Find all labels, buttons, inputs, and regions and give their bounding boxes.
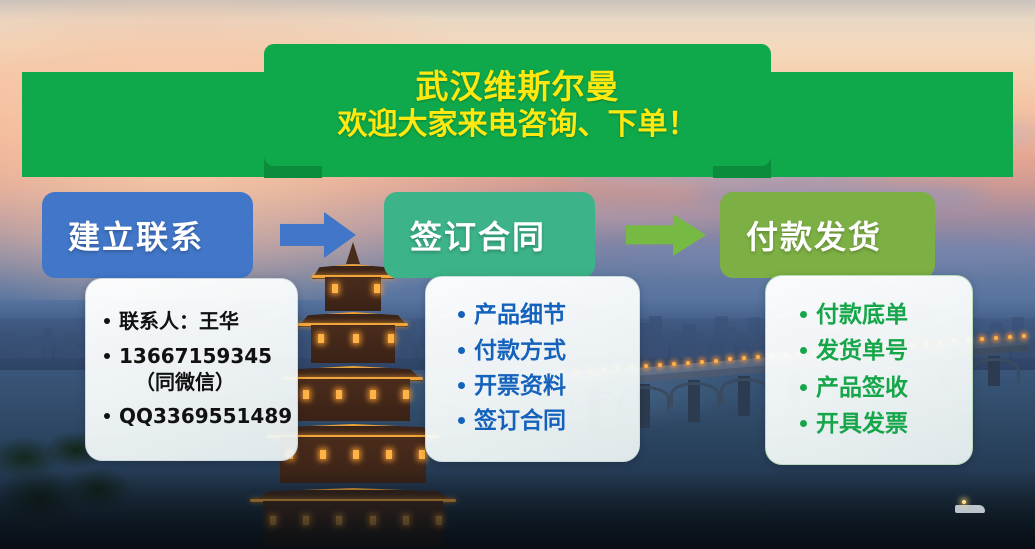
tower-window-light [332,284,338,293]
banner-subtitle: 欢迎大家来电咨询、下单！ [338,107,698,142]
list-item: 13667159345 （同微信） [104,344,289,395]
arrow-head [673,214,706,256]
tower-window-light [403,390,409,399]
bridge-lamp [700,360,704,364]
bullet-dot-icon [104,413,110,419]
tower-window-light [336,390,342,399]
tower-window-light [388,334,394,343]
step-3-header[interactable]: 付款发货 [720,192,935,278]
step-3-bullet-4: 开具发票 [816,410,908,439]
arrow-head [324,212,356,258]
step-1-bullet-2-note: （同微信） [119,370,272,396]
arrow-step2-to-step3-icon [626,214,706,256]
step-2-title: 签订合同 [410,212,546,258]
foreground-shadow [0,470,1035,549]
bridge-lamp [1008,335,1012,339]
bridge-lamp [686,361,690,365]
tower-window-light [370,390,376,399]
tower-window-light [374,284,380,293]
tower-window-light [419,450,425,459]
bullet-dot-icon [458,417,465,424]
bullet-dot-icon [458,382,465,389]
list-item: 产品细节 [458,301,631,330]
list-item: 发货单号 [800,337,964,366]
step-1-title: 建立联系 [68,212,204,258]
tower-storey [311,325,395,363]
step-1-bullet-1: 联系人：王华 [119,309,239,335]
poster-canvas: 武汉维斯尔曼 欢迎大家来电咨询、下单！ 建立联系 联系人：王华 13667159… [0,0,1035,549]
tower-window-light [320,450,326,459]
bullet-dot-icon [800,384,807,391]
step-3-bullet-1: 付款底单 [816,301,908,330]
tower-storey [325,277,381,311]
step-2-header[interactable]: 签订合同 [384,192,595,278]
list-item: 开具发票 [800,410,964,439]
step-1-bullet-2: 13667159345 （同微信） [119,344,272,395]
boat-light [962,500,966,504]
bullet-dot-icon [800,420,807,427]
bridge-arch [670,382,720,407]
bridge-lamp [672,362,676,366]
step-3-bullets: 付款底单 发货单号 产品签收 开具发票 [782,301,964,440]
step-2-bullet-1: 产品细节 [474,301,566,330]
bullet-dot-icon [104,318,110,324]
boat [955,505,985,513]
tower-window-light [318,334,324,343]
bullet-dot-icon [800,311,807,318]
list-item: 签订合同 [458,407,631,436]
step-3-title: 付款发货 [746,212,882,258]
step-2-card: 产品细节 付款方式 开票资料 签订合同 [425,276,640,462]
step-1-header[interactable]: 建立联系 [42,192,253,278]
arrow-step1-to-step2-icon [280,211,356,259]
step-2-bullets: 产品细节 付款方式 开票资料 签订合同 [440,301,631,437]
bullet-dot-icon [458,347,465,354]
tower-window-light [353,450,359,459]
step-2-bullet-4: 签订合同 [474,407,566,436]
bullet-dot-icon [458,311,465,318]
tower-window-light [353,334,359,343]
list-item: QQ3369551489 [104,404,289,430]
bullet-dot-icon [104,353,110,359]
step-3-bullet-3: 产品签收 [816,374,908,403]
bridge-arch [720,378,770,403]
banner-text: 武汉维斯尔曼 欢迎大家来电咨询、下单！ [264,44,771,166]
list-item: 开票资料 [458,372,631,401]
arrow-shaft [280,224,326,246]
list-item: 付款底单 [800,301,964,330]
tower-window-light [303,390,309,399]
step-2-bullet-3: 开票资料 [474,372,566,401]
step-1-bullets: 联系人：王华 13667159345 （同微信） QQ3369551489 [86,309,289,429]
step-3-card: 付款底单 发货单号 产品签收 开具发票 [765,275,973,465]
step-2-bullet-2: 付款方式 [474,337,566,366]
banner-ribbon: 武汉维斯尔曼 欢迎大家来电咨询、下单！ [0,0,1035,195]
bridge-lamp [1022,334,1026,338]
bullet-dot-icon [800,347,807,354]
bridge-lamp [714,359,718,363]
step-1-bullet-2-phone: 13667159345 [119,344,272,368]
list-item: 联系人：王华 [104,309,289,335]
tower-window-light [386,450,392,459]
list-item: 产品签收 [800,374,964,403]
step-1-card: 联系人：王华 13667159345 （同微信） QQ3369551489 [85,278,298,461]
list-item: 付款方式 [458,337,631,366]
banner-title: 武汉维斯尔曼 [416,68,620,107]
tower-storey [296,379,410,421]
arrow-shaft [626,225,674,244]
step-1-bullet-3: QQ3369551489 [119,404,292,430]
step-3-bullet-2: 发货单号 [816,337,908,366]
bridge-arch [970,358,1020,383]
